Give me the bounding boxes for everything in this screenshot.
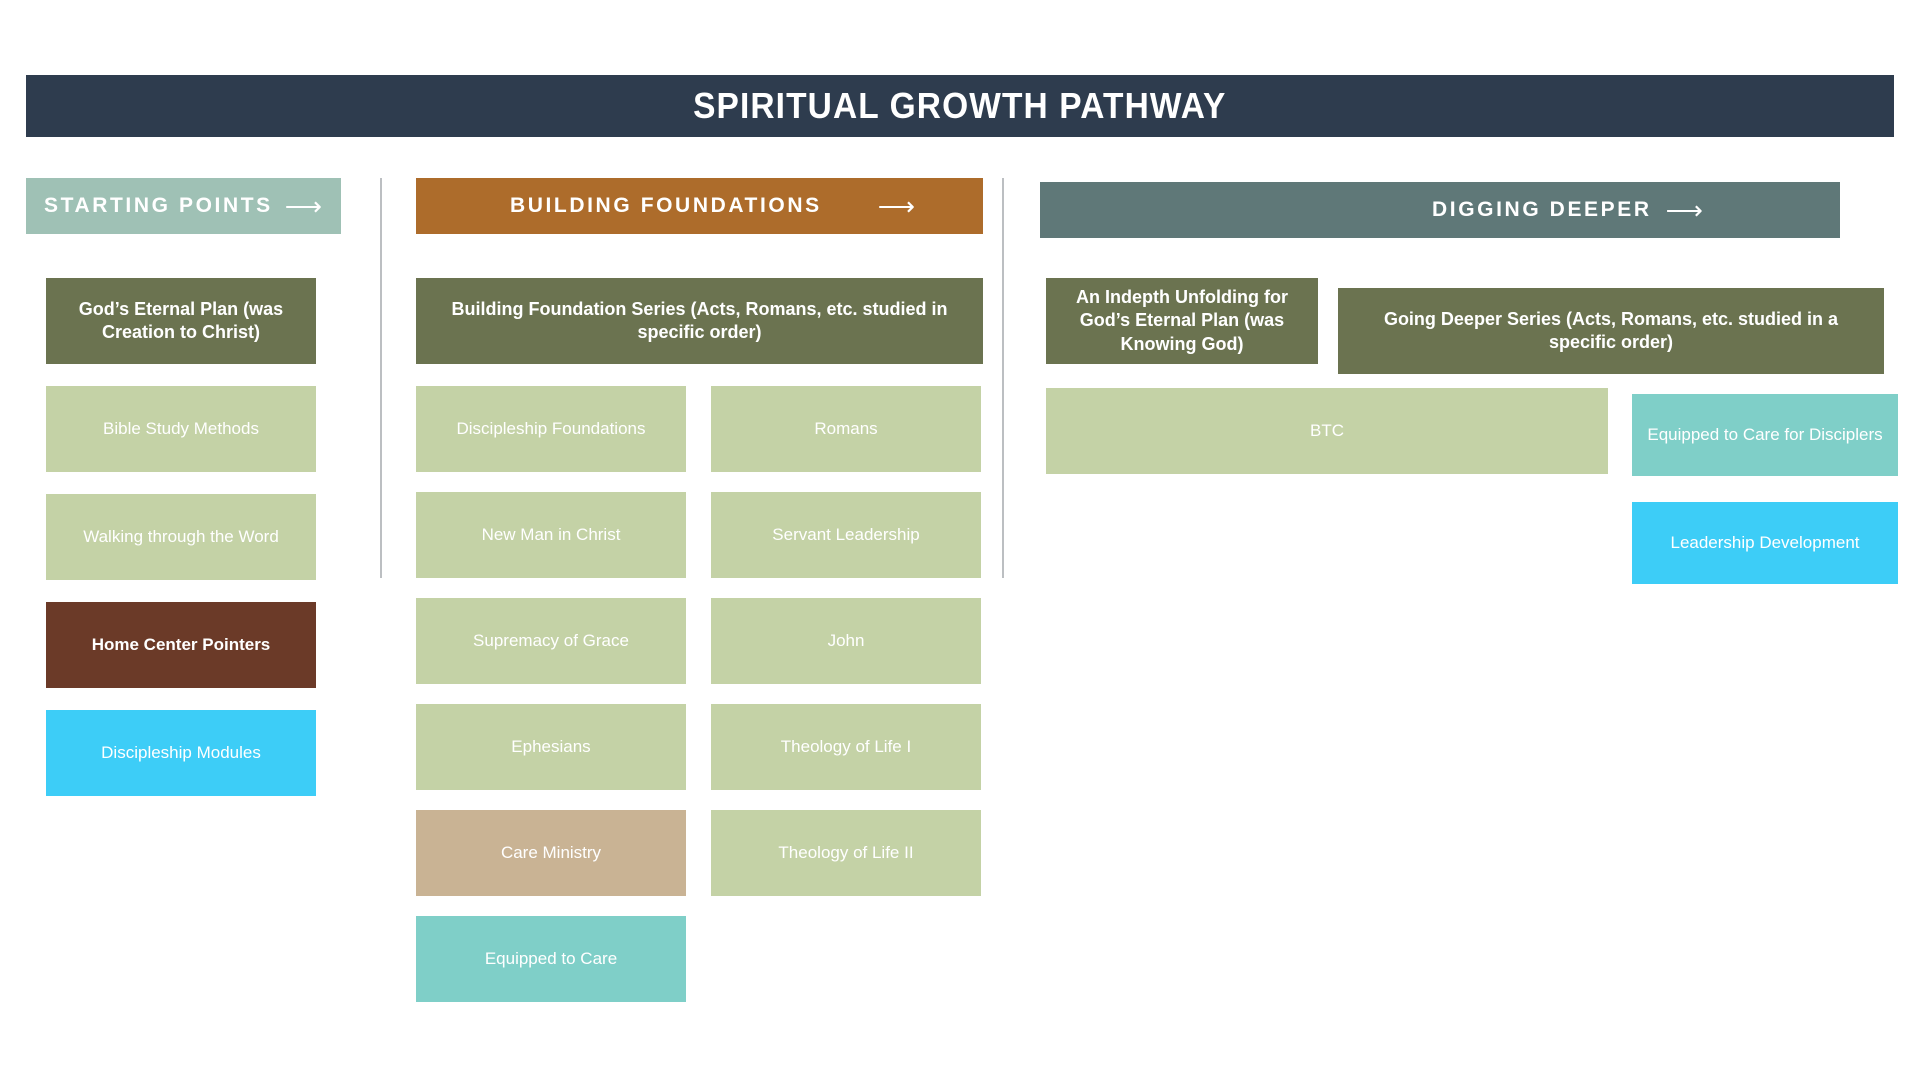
card-walking-through-the-word[interactable]: Walking through the Word <box>46 494 316 580</box>
card-label: John <box>828 630 865 652</box>
card-label: Going Deeper Series (Acts, Romans, etc. … <box>1348 308 1874 354</box>
page-title: SPIRITUAL GROWTH PATHWAY <box>693 85 1226 127</box>
card-label: God’s Eternal Plan (was Creation to Chri… <box>56 298 306 344</box>
card-label: Care Ministry <box>501 842 601 864</box>
card-care-ministry[interactable]: Care Ministry <box>416 810 686 896</box>
card-label: Discipleship Modules <box>101 742 261 764</box>
column-header-digging-deeper[interactable]: DIGGING DEEPER ⟶ <box>1040 182 1840 238</box>
card-label: BTC <box>1310 420 1344 442</box>
card-label: Supremacy of Grace <box>473 630 629 652</box>
column-header-label: STARTING POINTS <box>44 194 273 218</box>
card-bible-study-methods[interactable]: Bible Study Methods <box>46 386 316 472</box>
arrow-right-icon: ⟶ <box>1666 197 1703 223</box>
arrow-right-icon: ⟶ <box>878 193 915 219</box>
card-romans[interactable]: Romans <box>711 386 981 472</box>
card-john[interactable]: John <box>711 598 981 684</box>
card-label: Romans <box>814 418 877 440</box>
card-label: Walking through the Word <box>83 526 279 548</box>
card-equipped-to-care-for-disciplers[interactable]: Equipped to Care for Disciplers <box>1632 394 1898 476</box>
card-new-man-in-christ[interactable]: New Man in Christ <box>416 492 686 578</box>
card-label: Ephesians <box>511 736 590 758</box>
column-divider <box>1002 178 1004 578</box>
card-ephesians[interactable]: Ephesians <box>416 704 686 790</box>
card-label: Discipleship Foundations <box>457 418 646 440</box>
card-label: Leadership Development <box>1670 532 1859 554</box>
column-header-label: DIGGING DEEPER <box>1432 198 1652 222</box>
card-label: An Indepth Unfolding for God’s Eternal P… <box>1056 286 1308 355</box>
card-an-indepth-unfolding[interactable]: An Indepth Unfolding for God’s Eternal P… <box>1046 278 1318 364</box>
card-home-center-pointers[interactable]: Home Center Pointers <box>46 602 316 688</box>
card-label: Servant Leadership <box>772 524 919 546</box>
card-label: Equipped to Care <box>485 948 617 970</box>
card-gods-eternal-plan[interactable]: God’s Eternal Plan (was Creation to Chri… <box>46 278 316 364</box>
page-title-banner: SPIRITUAL GROWTH PATHWAY <box>26 75 1894 137</box>
card-servant-leadership[interactable]: Servant Leadership <box>711 492 981 578</box>
card-supremacy-of-grace[interactable]: Supremacy of Grace <box>416 598 686 684</box>
column-header-building-foundations[interactable]: BUILDING FOUNDATIONS ⟶ <box>416 178 983 234</box>
card-equipped-to-care[interactable]: Equipped to Care <box>416 916 686 1002</box>
column-header-starting-points[interactable]: STARTING POINTS ⟶ <box>26 178 341 234</box>
card-discipleship-foundations[interactable]: Discipleship Foundations <box>416 386 686 472</box>
card-btc[interactable]: BTC <box>1046 388 1608 474</box>
card-theology-of-life-1[interactable]: Theology of Life I <box>711 704 981 790</box>
column-header-label: BUILDING FOUNDATIONS <box>510 194 822 218</box>
card-building-foundation-series[interactable]: Building Foundation Series (Acts, Romans… <box>416 278 983 364</box>
card-label: Equipped to Care for Disciplers <box>1647 424 1882 446</box>
card-theology-of-life-2[interactable]: Theology of Life II <box>711 810 981 896</box>
arrow-right-icon: ⟶ <box>285 193 322 219</box>
card-discipleship-modules[interactable]: Discipleship Modules <box>46 710 316 796</box>
column-divider <box>380 178 382 578</box>
card-label: Theology of Life II <box>778 842 913 864</box>
card-label: Home Center Pointers <box>92 634 271 656</box>
card-going-deeper-series[interactable]: Going Deeper Series (Acts, Romans, etc. … <box>1338 288 1884 374</box>
card-leadership-development[interactable]: Leadership Development <box>1632 502 1898 584</box>
card-label: Theology of Life I <box>781 736 911 758</box>
card-label: Building Foundation Series (Acts, Romans… <box>426 298 973 344</box>
card-label: New Man in Christ <box>482 524 621 546</box>
card-label: Bible Study Methods <box>103 418 259 440</box>
